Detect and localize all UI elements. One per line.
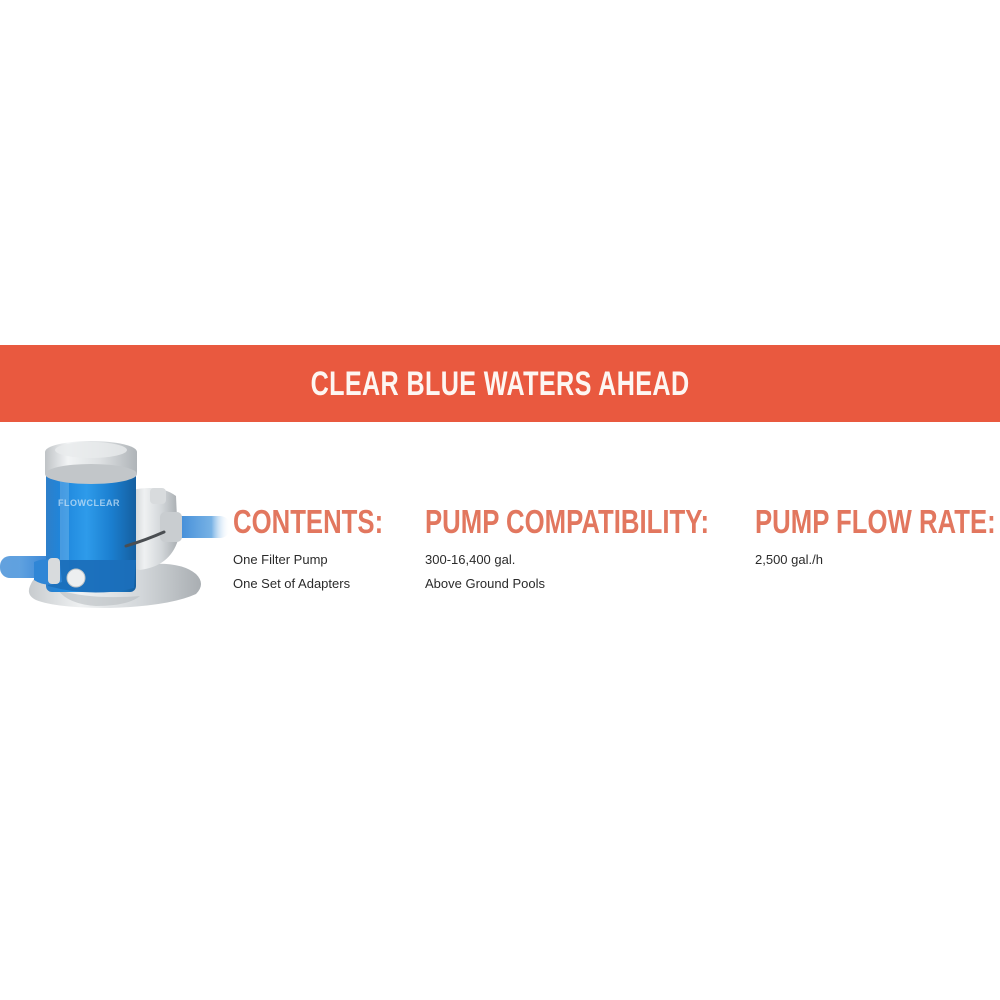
- banner: CLEAR BLUE WATERS AHEAD: [0, 345, 1000, 422]
- spec-heading: PUMP COMPATIBILITY:: [425, 505, 709, 539]
- spec-column-contents: CONTENTS: One Filter Pump One Set of Ada…: [233, 505, 426, 596]
- spec-line: 300-16,400 gal.: [425, 548, 789, 572]
- spec-column-pump-flow-rate: PUMP FLOW RATE: 2,500 gal./h: [755, 505, 1000, 572]
- spec-heading: CONTENTS:: [233, 505, 383, 539]
- spec-line: One Set of Adapters: [233, 572, 426, 596]
- spec-heading: PUMP FLOW RATE:: [755, 505, 996, 539]
- tank-lid-inner: [55, 442, 127, 458]
- spec-columns: CONTENTS: One Filter Pump One Set of Ada…: [0, 505, 1000, 625]
- spec-line: 2,500 gal./h: [755, 548, 1000, 572]
- tank-lid-base: [45, 464, 137, 484]
- banner-title: CLEAR BLUE WATERS AHEAD: [311, 367, 690, 401]
- spec-line: Above Ground Pools: [425, 572, 789, 596]
- outlet-nozzle: [150, 488, 166, 504]
- spec-column-pump-compatibility: PUMP COMPATIBILITY: 300-16,400 gal. Abov…: [425, 505, 789, 596]
- spec-line: One Filter Pump: [233, 548, 426, 572]
